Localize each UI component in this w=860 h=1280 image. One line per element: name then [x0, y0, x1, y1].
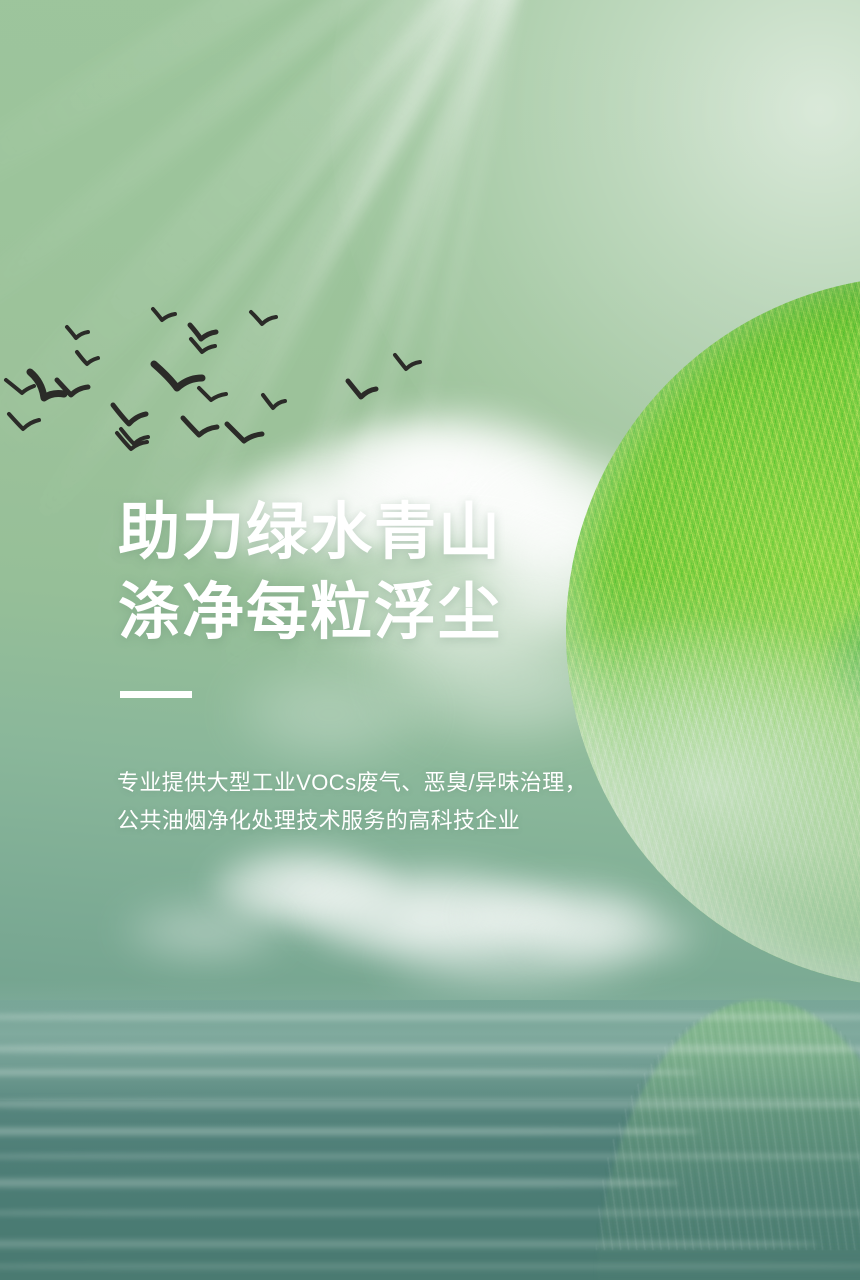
- title-divider: [120, 691, 192, 698]
- headline-line-2: 涤净每粒浮尘: [118, 573, 638, 653]
- subtitle: 专业提供大型工业VOCs废气、恶臭/异味治理， 公共油烟净化处理技术服务的高科技…: [117, 764, 677, 840]
- subtitle-line-1: 专业提供大型工业VOCs废气、恶臭/异味治理，: [117, 764, 677, 802]
- subtitle-line-2: 公共油烟净化处理技术服务的高科技企业: [117, 802, 677, 840]
- headline-line-1: 助力绿水青山: [118, 493, 638, 573]
- page-title: 助力绿水青山 涤净每粒浮尘: [118, 493, 638, 653]
- water-surface: [0, 1000, 860, 1280]
- poster-canvas: 助力绿水青山 涤净每粒浮尘 专业提供大型工业VOCs废气、恶臭/异味治理， 公共…: [0, 0, 860, 1280]
